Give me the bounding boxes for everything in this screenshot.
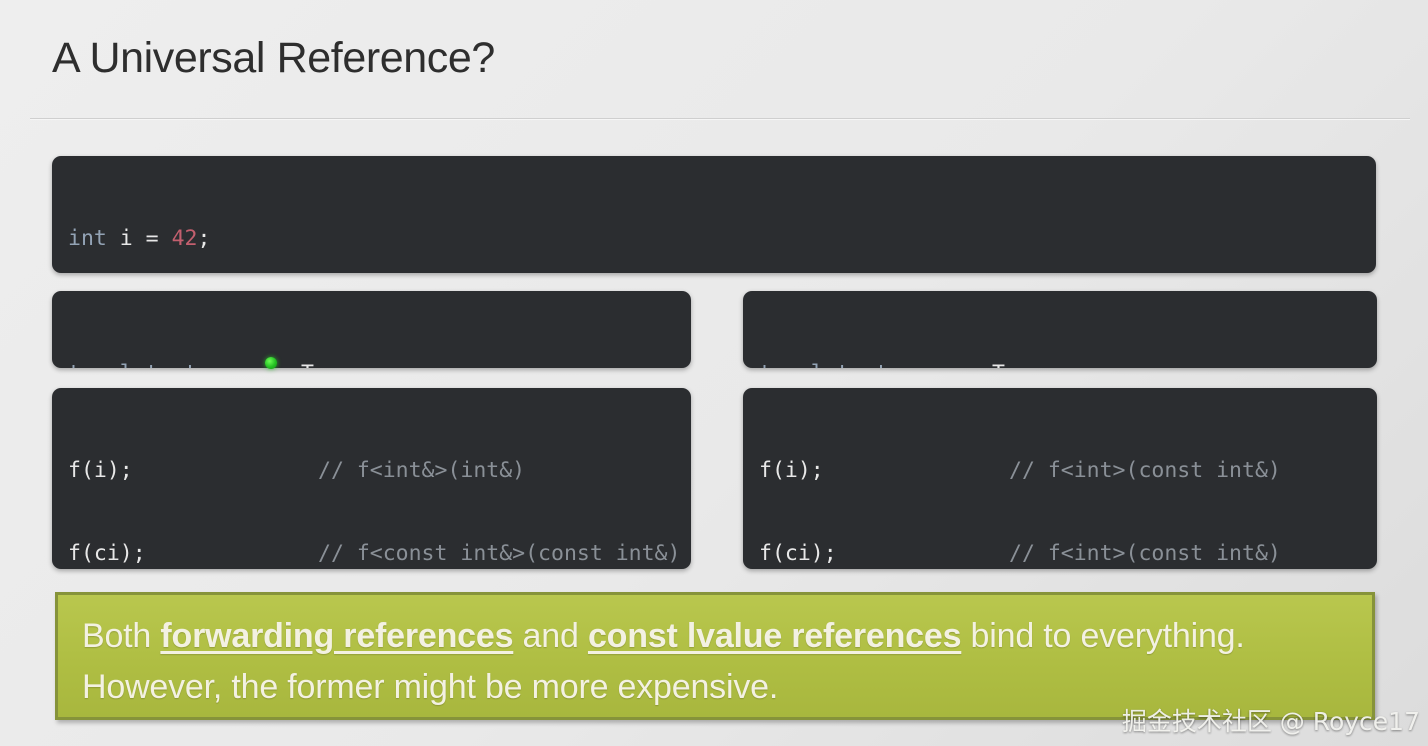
number-token: 42: [172, 226, 198, 251]
call-pre: f(i);: [759, 458, 824, 483]
punct-token: <: [172, 361, 185, 368]
keyword-token: template: [68, 361, 172, 368]
page-title: A Universal Reference?: [52, 34, 495, 83]
summary-callout: Both forwarding references and const lva…: [55, 592, 1375, 720]
call-expression: f(i);: [759, 457, 1009, 485]
punct-token: <: [863, 361, 876, 368]
identifier-token: T>: [979, 361, 1018, 368]
code-line: f(i);// f<int>(const int&): [759, 457, 1361, 485]
callout-text: and: [513, 617, 588, 655]
watermark: 掘金技术社区 @ Royce17: [1122, 702, 1420, 738]
code-comment: // f<int&>(int&): [318, 458, 525, 483]
code-block-declarations: int i = 42; const int ci = 42; int make_…: [52, 156, 1376, 273]
call-expression: f(ci);: [68, 540, 318, 568]
code-line: f(ci);// f<int>(const int&): [759, 540, 1361, 568]
code-block-calls-forwarding-ref: f(i);// f<int&>(int&) f(ci);// f<const i…: [52, 388, 691, 569]
identifier-token: i =: [107, 226, 172, 251]
code-block-calls-const-lvalue-ref: f(i);// f<int>(const int&) f(ci);// f<in…: [743, 388, 1377, 569]
keyword-token: template: [759, 361, 863, 368]
callout-text: Both: [82, 617, 160, 655]
code-block-template-const-lvalue-ref: template<typename T> void f(const T& x);: [743, 291, 1377, 368]
identifier-token: T>: [288, 361, 327, 368]
callout-line-1: Both forwarding references and const lva…: [82, 611, 1348, 662]
keyword-token: typename: [876, 361, 980, 368]
callout-text: bind to everything.: [961, 617, 1244, 655]
code-line: int i = 42;: [68, 225, 1360, 253]
code-line: f(i);// f<int&>(int&): [68, 457, 675, 485]
callout-emphasis-forwarding-references: forwarding references: [160, 617, 513, 655]
call-expression: f(ci);: [759, 540, 1009, 568]
call-pre: f(i);: [68, 458, 133, 483]
callout-emphasis-const-lvalue-references: const lvalue references: [588, 617, 961, 655]
laser-pointer-cursor: [265, 357, 277, 369]
code-comment: // f<int>(const int&): [1009, 458, 1281, 483]
slide-canvas: A Universal Reference? int i = 42; const…: [0, 0, 1428, 746]
code-comment: // f<const int&>(const int&): [318, 541, 680, 566]
code-line: template<typename T>: [759, 360, 1361, 368]
code-line: template<typename T>: [68, 360, 675, 368]
code-line: f(ci);// f<const int&>(const int&): [68, 540, 675, 568]
code-block-template-forwarding-ref: template<typename T> void f(T&& x);: [52, 291, 691, 368]
call-expression: f(i);: [68, 457, 318, 485]
punct-token: ;: [197, 226, 210, 251]
call-pre: f(ci);: [68, 541, 146, 566]
keyword-token: int: [68, 226, 107, 251]
call-pre: f(ci);: [759, 541, 837, 566]
code-comment: // f<int>(const int&): [1009, 541, 1281, 566]
title-divider: [30, 118, 1410, 119]
